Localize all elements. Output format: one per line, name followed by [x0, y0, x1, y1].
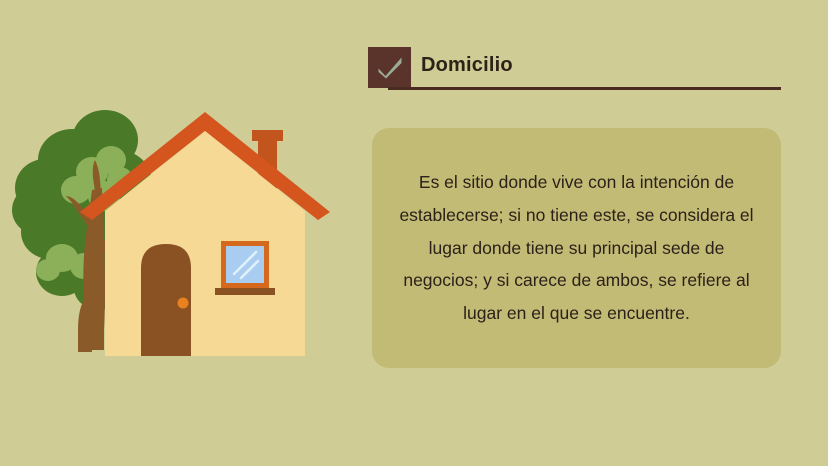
doorknob	[178, 298, 189, 309]
section-header: Domicilio	[368, 46, 781, 90]
slide-canvas: Domicilio Es el sitio donde vive con la …	[0, 0, 828, 466]
title-divider	[388, 87, 781, 90]
page-title: Domicilio	[421, 54, 513, 77]
definition-card: Es el sitio donde vive con la intención …	[372, 128, 781, 368]
definition-text: Es el sitio donde vive con la intención …	[398, 166, 755, 330]
house-with-tree-illustration	[0, 0, 360, 466]
check-icon	[368, 47, 411, 88]
window	[215, 241, 275, 295]
content-column: Domicilio Es el sitio donde vive con la …	[368, 0, 828, 466]
